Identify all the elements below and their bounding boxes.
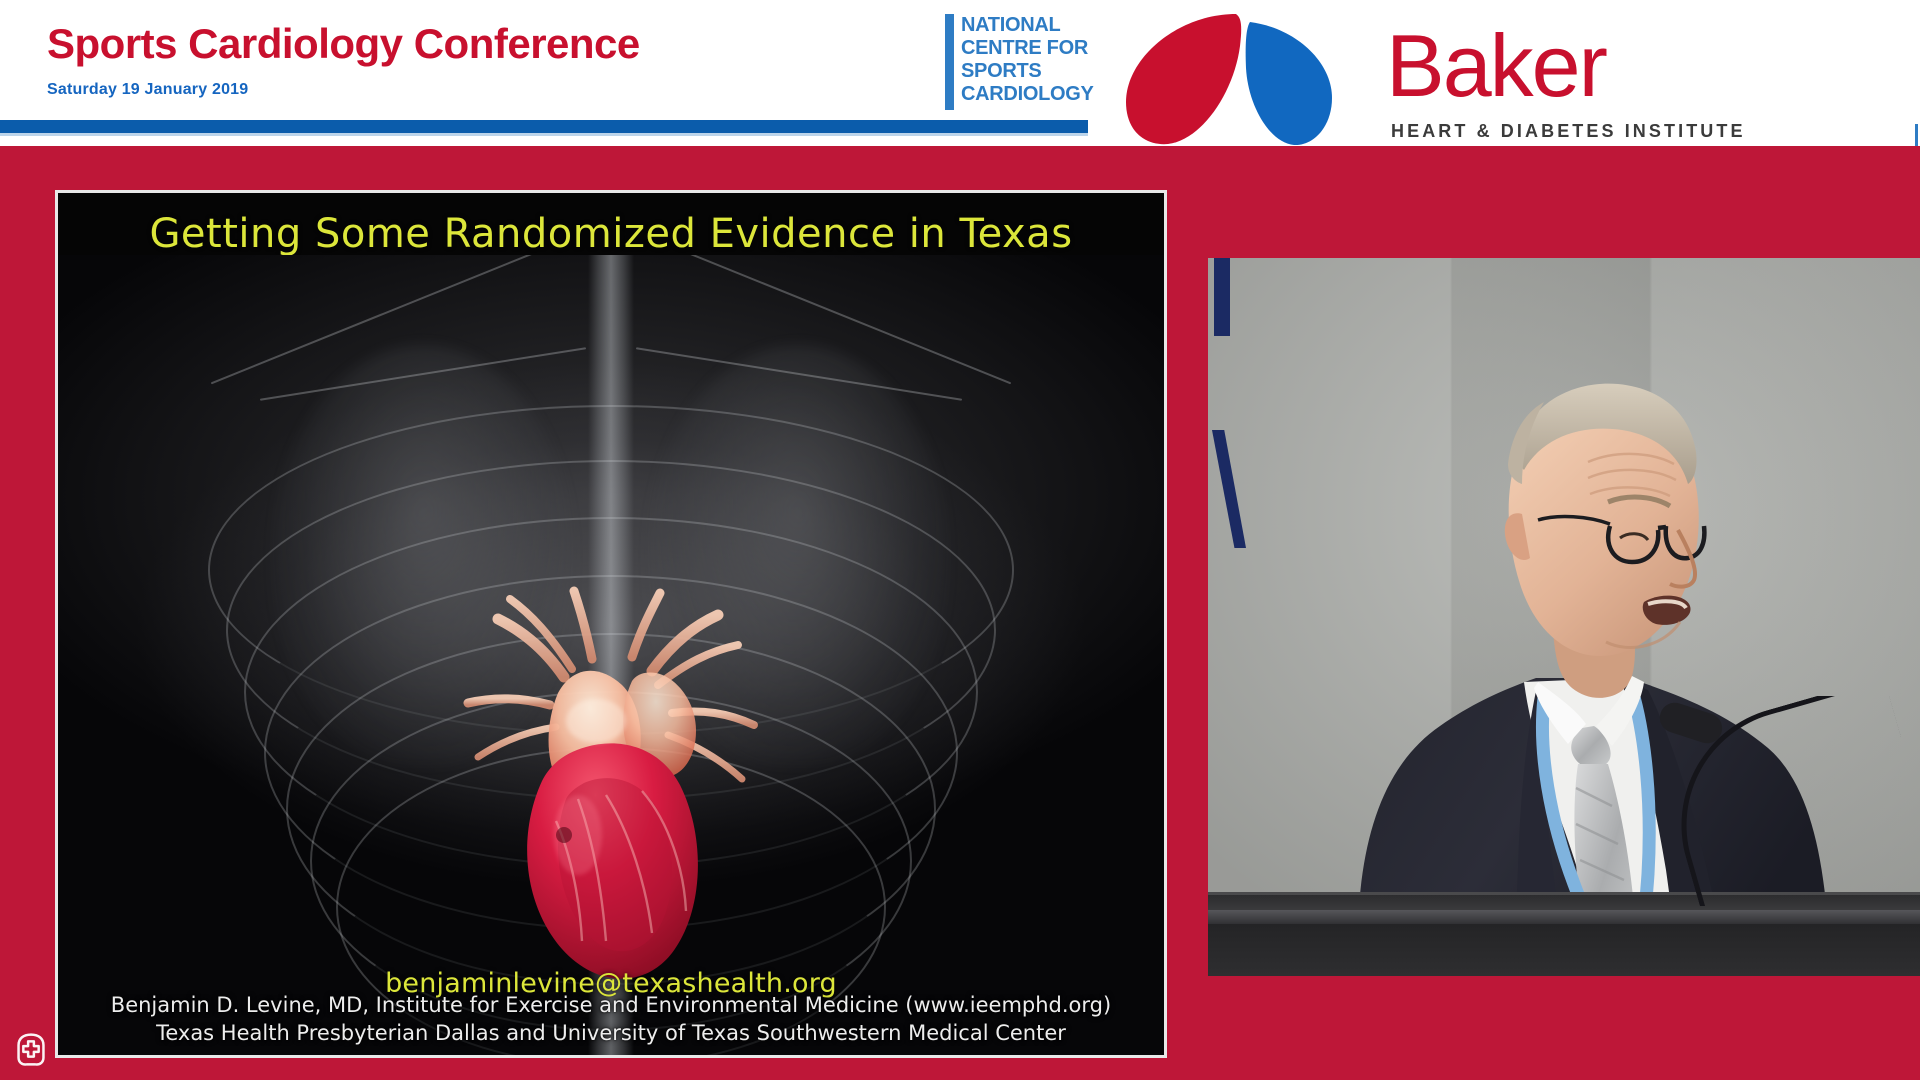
ncsc-line-2: CENTRE FOR (961, 37, 1094, 60)
ncsc-accent-bar (945, 14, 954, 110)
slide-credit-line-1: Benjamin D. Levine, MD, Institute for Ex… (58, 992, 1164, 1019)
anatomy-illustration (58, 255, 1164, 1058)
ncsc-line-4: CARDIOLOGY (961, 83, 1094, 106)
medical-cross-shield-watermark-icon (8, 1026, 54, 1072)
page-title: Sports Cardiology Conference (47, 22, 927, 66)
heart-graphic-icon (446, 585, 776, 1005)
baker-tagline: HEART & DIABETES INSTITUTE (1391, 121, 1746, 142)
baker-wordmark: Baker (1386, 22, 1606, 110)
microphone-head (1656, 699, 1726, 747)
conference-date: Saturday 19 January 2019 (47, 81, 927, 99)
baker-petal-mark-icon (1118, 6, 1374, 146)
baker-edge-accent (1915, 124, 1918, 146)
header-title-block: Sports Cardiology Conference Saturday 19… (47, 22, 927, 99)
slide-title: Getting Some Randomized Evidence in Texa… (58, 211, 1164, 257)
speaker-head (1505, 384, 1705, 656)
ncsc-line-1: NATIONAL (961, 14, 1094, 37)
slide-credit: Benjamin D. Levine, MD, Institute for Ex… (58, 992, 1164, 1047)
speaker-video-panel[interactable] (1208, 258, 1920, 976)
national-centre-for-sports-cardiology-logo: NATIONAL CENTRE FOR SPORTS CARDIOLOGY (945, 14, 1094, 114)
ncsc-line-3: SPORTS (961, 60, 1094, 83)
lectern-top-edge (1208, 910, 1920, 924)
slide-credit-line-2: Texas Health Presbyterian Dallas and Uni… (58, 1020, 1164, 1047)
microphone (1656, 696, 1906, 906)
presentation-stage: Sports Cardiology Conference Saturday 19… (0, 0, 1920, 1080)
page-header: Sports Cardiology Conference Saturday 19… (0, 0, 1920, 146)
slide-panel[interactable]: Getting Some Randomized Evidence in Texa… (55, 190, 1167, 1058)
baker-heart-and-diabetes-institute-logo: Baker HEART & DIABETES INSTITUTE (1118, 4, 1918, 146)
header-blue-rule (0, 120, 1088, 133)
slide-content: Getting Some Randomized Evidence in Texa… (58, 193, 1164, 1055)
header-blue-rule-light (0, 133, 1088, 136)
ncsc-wordmark: NATIONAL CENTRE FOR SPORTS CARDIOLOGY (961, 14, 1094, 106)
